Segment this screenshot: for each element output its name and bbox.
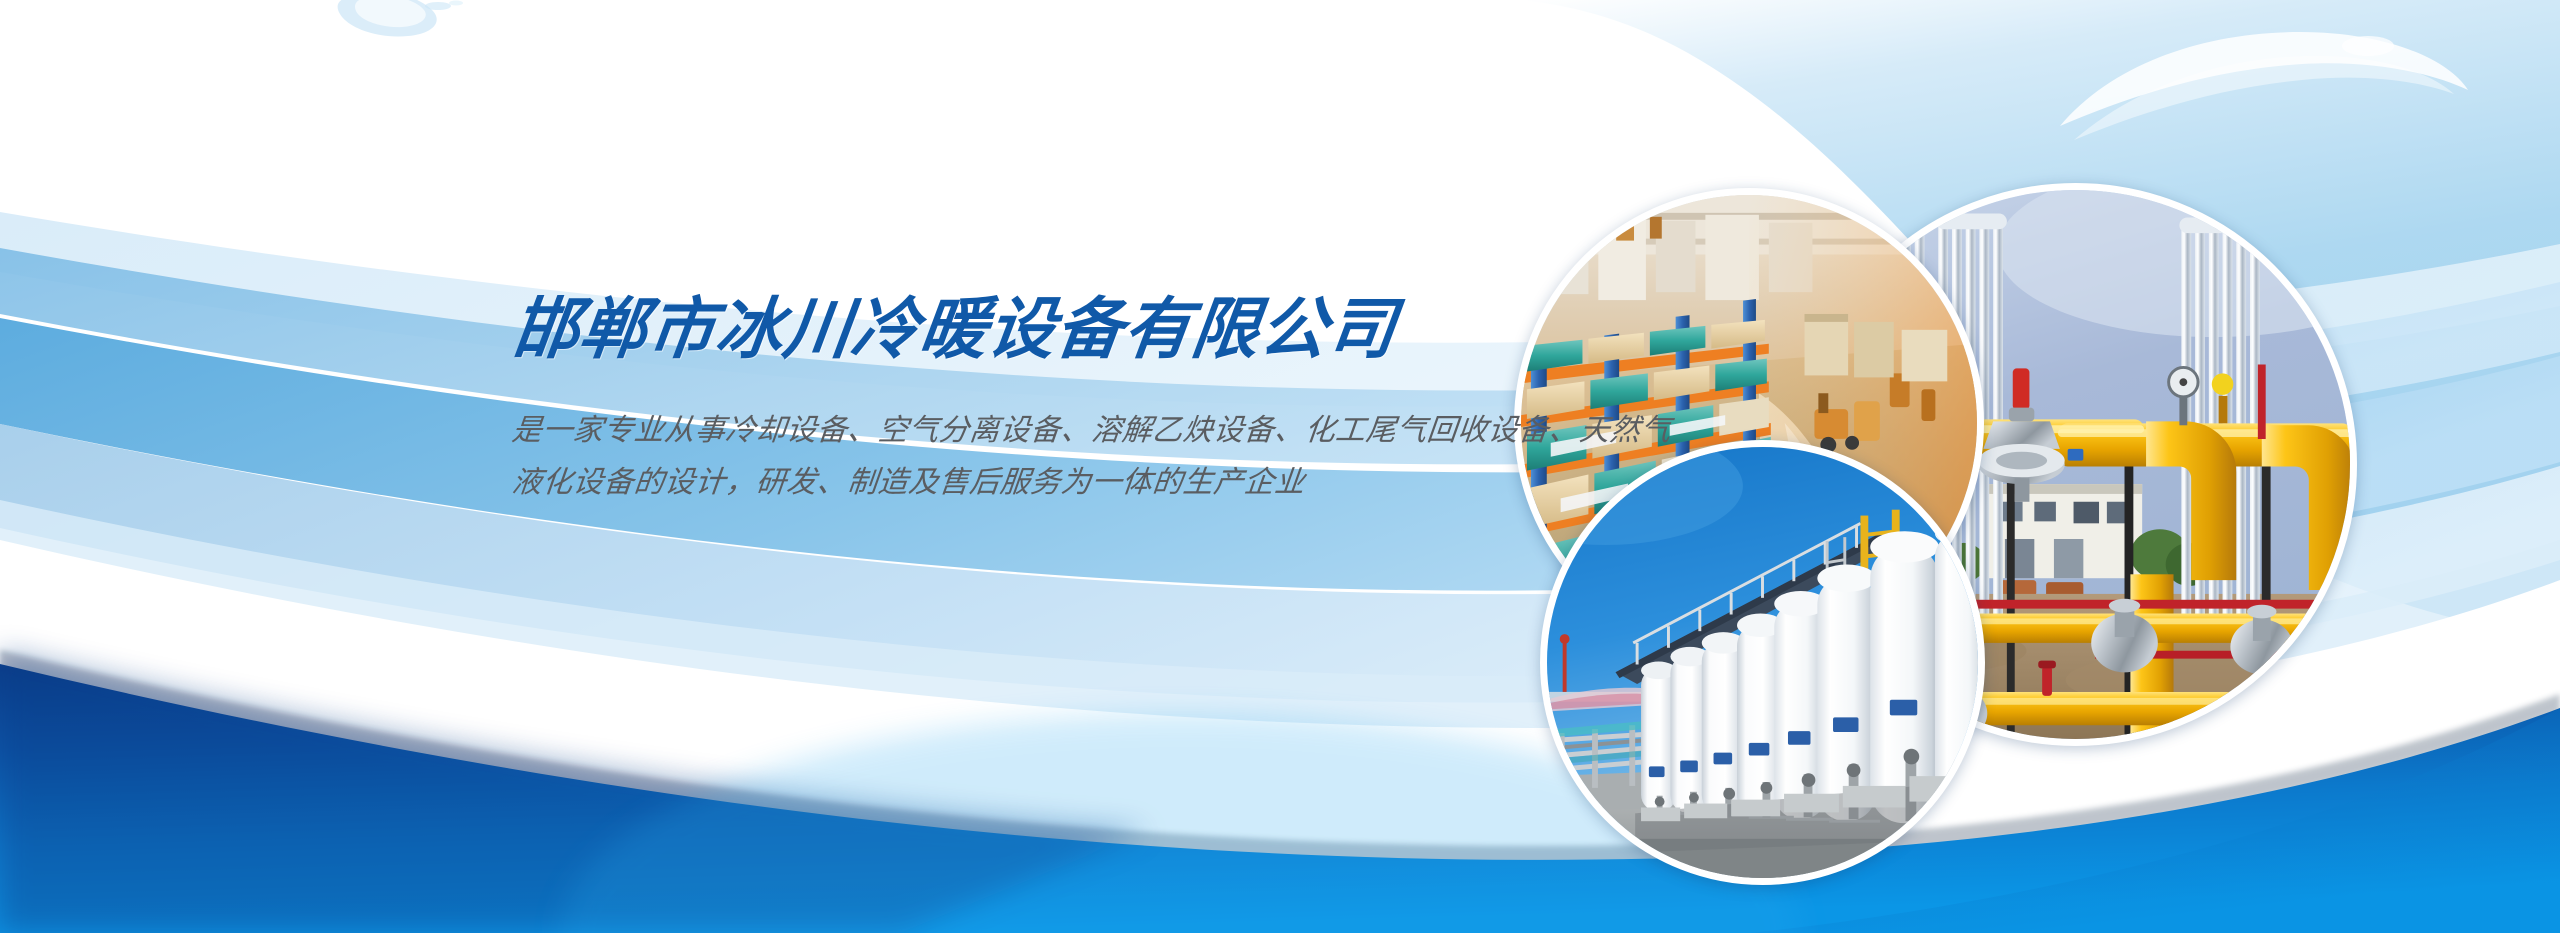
- company-hero-banner: 邯郸市冰川冷暖设备有限公司 是一家专业从事冷却设备、空气分离设备、溶解乙炔设备、…: [0, 0, 2560, 933]
- hero-text-block: 邯郸市冰川冷暖设备有限公司 是一家专业从事冷却设备、空气分离设备、溶解乙炔设备、…: [512, 296, 1522, 508]
- glossy-droplet-highlight-icon: [2050, 30, 2470, 190]
- photo-cryogenic-storage-tanks: [1540, 440, 1985, 885]
- company-title: 邯郸市冰川冷暖设备有限公司: [508, 296, 1526, 363]
- water-droplet-swirl-icon: [320, 0, 470, 54]
- tagline-line-2: 液化设备的设计，研发、制造及售后服务为一体的生产企业: [509, 457, 1524, 509]
- tagline-line-1: 是一家专业从事冷却设备、空气分离设备、溶解乙炔设备、化工尾气回收设备、天然气: [509, 405, 1524, 457]
